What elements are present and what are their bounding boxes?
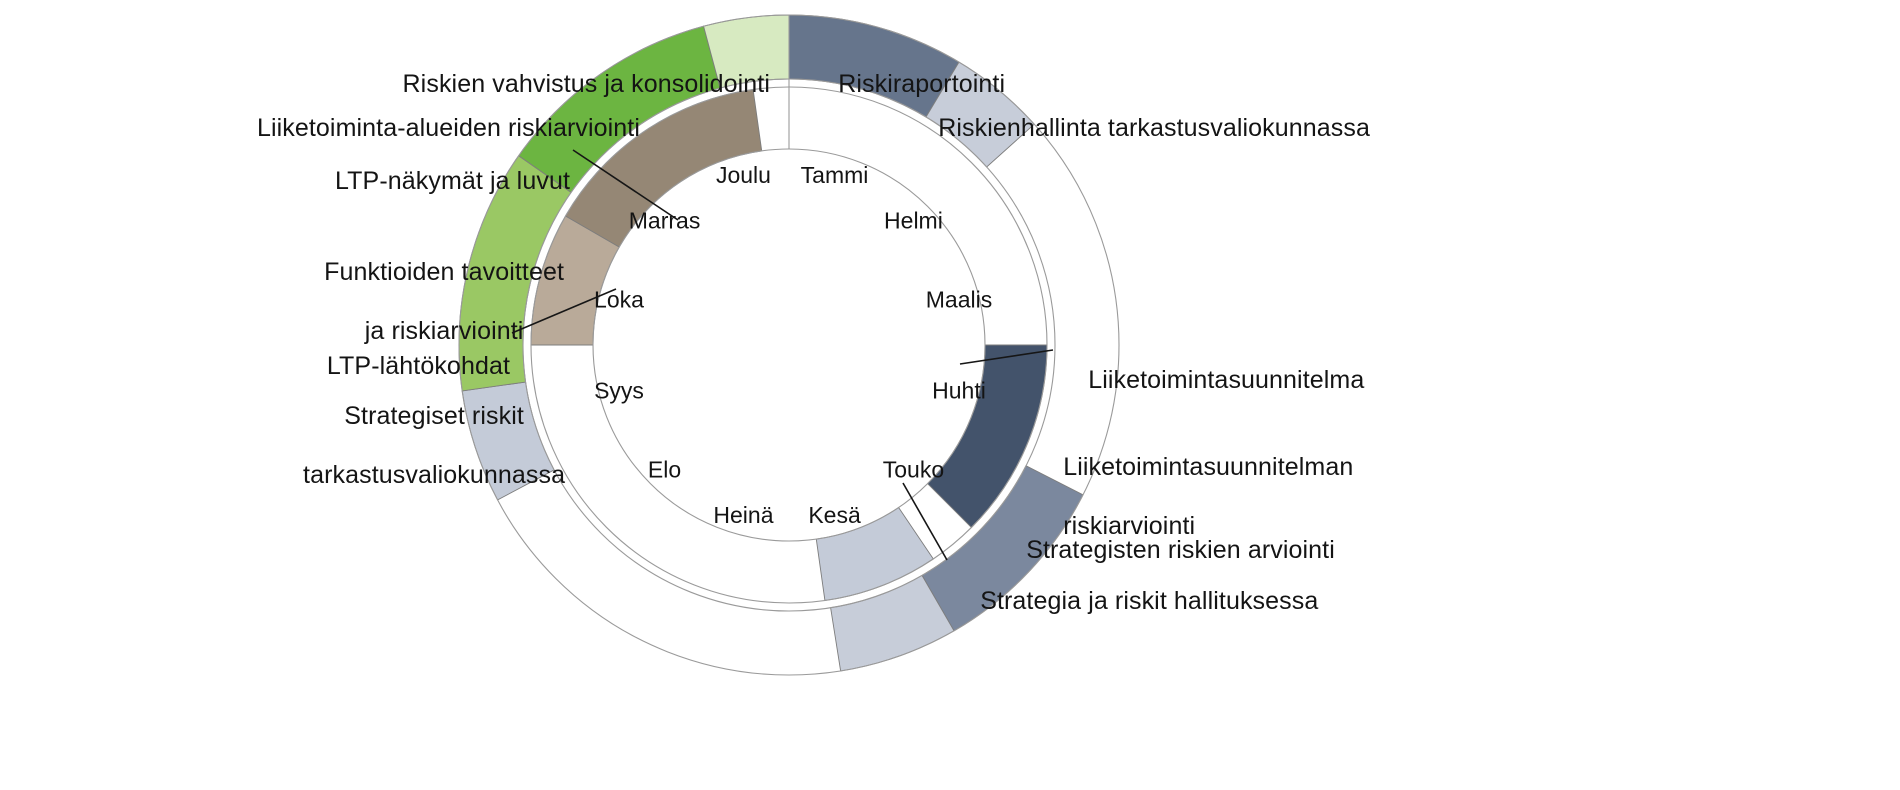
month-label-joulu: Joulu [716, 162, 771, 188]
month-label-touko: Touko [883, 456, 944, 482]
callout-business-plan: Liiketoimintasuunnitelma [1060, 336, 1620, 425]
month-label-tammi: Tammi [801, 162, 869, 188]
month-label-helmi: Helmi [884, 208, 943, 234]
month-label-maalis: Maalis [926, 286, 992, 312]
callout-function-goals-line1: Funktioiden tavoitteet [324, 258, 564, 286]
callout-strategy-risk-board: Strategia ja riskit hallituksessa [952, 557, 1552, 646]
callout-strategic-risks-audit-line1: Strategiset riskit [344, 402, 524, 430]
month-label-elo: Elo [648, 456, 681, 482]
callout-business-plan-risk-line1: Liiketoimintasuunnitelman [1063, 453, 1353, 481]
month-label-kesä: Kesä [808, 502, 861, 528]
callout-risk-mgmt-audit: Riskienhallinta tarkastusvaliokunnassa [910, 84, 1610, 173]
callout-risk-mgmt-audit-text: Riskienhallinta tarkastusvaliokunnassa [938, 114, 1370, 142]
risk-cycle-infographic: TammiHelmiMaalisHuhtiToukoKesäHeinäEloSy… [0, 0, 1900, 790]
callout-strategic-risks-audit-line2: tarkastusvaliokunnassa [303, 461, 565, 489]
callout-strategy-risk-board-text: Strategia ja riskit hallituksessa [980, 587, 1318, 615]
callout-business-plan-text: Liiketoimintasuunnitelma [1088, 366, 1364, 394]
callout-ltp-views: LTP-näkymät ja luvut [120, 137, 570, 226]
callout-strategic-risks-audit: Strategiset riskit tarkastusvaliokunnass… [210, 372, 630, 520]
month-label-heinä: Heinä [713, 502, 773, 528]
callout-ltp-views-text: LTP-näkymät ja luvut [335, 167, 570, 195]
month-label-marras: Marras [629, 208, 701, 234]
month-label-huhti: Huhti [932, 378, 986, 404]
